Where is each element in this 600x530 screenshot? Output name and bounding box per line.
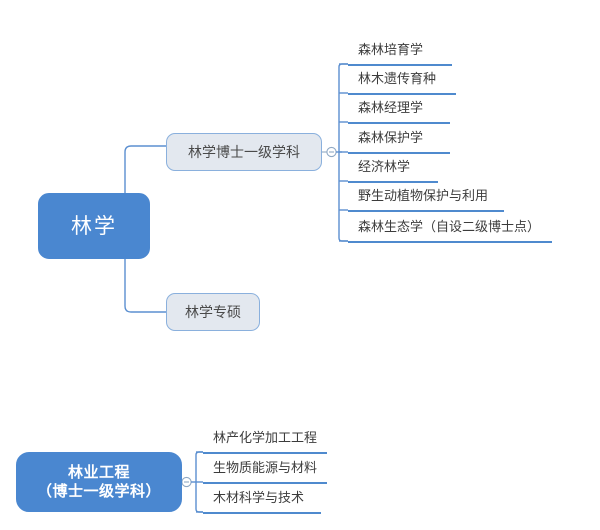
branch-node-linxue-boshi-label: 林学博士一级学科	[188, 142, 300, 162]
leaf-label: 木材科学与技术	[213, 492, 321, 510]
leaf-label: 森林培育学	[358, 44, 452, 62]
leaf-label: 林木遗传育种	[358, 73, 456, 91]
root-node-linxue[interactable]: 林学	[38, 193, 150, 259]
branch-node-linxue-boshi[interactable]: 林学博士一级学科	[166, 133, 322, 171]
leaf-label: 林产化学加工工程	[213, 432, 327, 450]
connector-root-to-branch-boshi	[125, 146, 166, 193]
leaf-node-linchan-huaxue[interactable]: 林产化学加工工程	[203, 424, 327, 454]
leaf-node-senlin-jinglixue[interactable]: 森林经理学	[348, 94, 450, 124]
leaf-node-yesheng-dongzhiwu[interactable]: 野生动植物保护与利用	[348, 182, 504, 212]
leaf-label: 经济林学	[358, 161, 438, 179]
connector-spine-linyegongcheng	[196, 452, 203, 512]
leaf-label: 生物质能源与材料	[213, 462, 327, 480]
leaf-label: 森林生态学（自设二级博士点）	[358, 221, 552, 239]
leaf-node-linmu-yichuanyuzhong[interactable]: 林木遗传育种	[348, 65, 456, 95]
leaf-node-senlin-baohuxue[interactable]: 森林保护学	[348, 124, 450, 154]
mindmap-canvas: 林学 林学博士一级学科 林学专硕 森林培育学 林木遗传育种 森林经理学 森林保护…	[0, 0, 600, 530]
collapse-toggle-boshi[interactable]	[327, 147, 336, 156]
root-node-linxue-label: 林学	[71, 213, 117, 240]
branch-node-linxue-zhuanshuo[interactable]: 林学专硕	[166, 293, 260, 331]
branch-node-linxue-zhuanshuo-label: 林学专硕	[185, 302, 241, 322]
leaf-node-mucai-kexue[interactable]: 木材科学与技术	[203, 484, 321, 514]
leaf-label: 森林经理学	[358, 102, 450, 120]
leaf-node-jingji-linxue[interactable]: 经济林学	[348, 153, 438, 183]
root-node-linyegongcheng-line1: 林业工程	[68, 463, 130, 482]
root-node-linyegongcheng[interactable]: 林业工程 （博士一级学科）	[16, 452, 182, 512]
leaf-node-senlin-shengtaixue[interactable]: 森林生态学（自设二级博士点）	[348, 213, 552, 243]
leaf-label: 野生动植物保护与利用	[358, 190, 504, 208]
leaf-node-senlin-peiyuxue[interactable]: 森林培育学	[348, 36, 452, 66]
connector-root-to-branch-zhuanshuo	[125, 259, 166, 312]
leaf-label: 森林保护学	[358, 132, 450, 150]
leaf-node-shengwuzhi-nengyuan[interactable]: 生物质能源与材料	[203, 454, 327, 484]
root-node-linyegongcheng-line2: （博士一级学科）	[37, 482, 161, 501]
collapse-toggle-linyegongcheng[interactable]	[182, 477, 191, 486]
connector-spine-boshi	[339, 64, 348, 241]
